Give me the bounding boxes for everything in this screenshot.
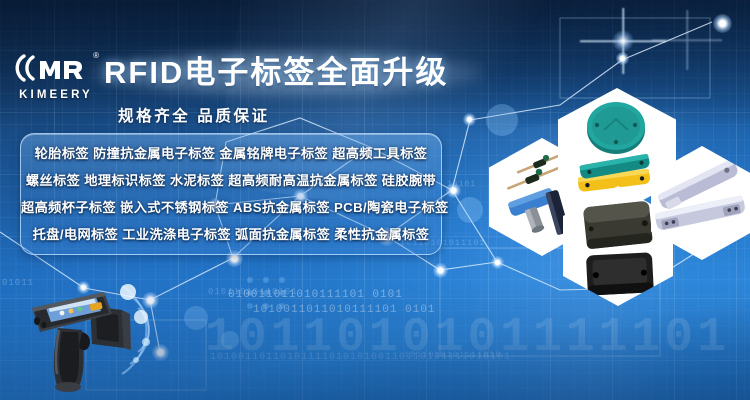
tag-list-row: 轮胎标签 防撞抗金属电子标签 金属铭牌电子标签 超高频工具标签 xyxy=(21,140,441,167)
headline-block: RFID电子标签全面升级 xyxy=(104,50,464,96)
network-node xyxy=(463,113,476,126)
brand-logo[interactable]: ® KIMEERY xyxy=(14,52,98,110)
network-node xyxy=(491,256,504,269)
tag-list-row: 螺丝标签 地理标识标签 水泥标签 超高频耐高温抗金属标签 硅胶腕带 xyxy=(21,167,441,194)
page-subtitle: 规格齐全 品质保证 xyxy=(118,104,270,126)
network-node xyxy=(433,263,448,278)
tag-list-row: 托盘/电网标签 工业洗涤电子标签 弧面抗金属标签 柔性抗金属标签 xyxy=(21,221,441,248)
network-node xyxy=(446,183,461,198)
network-node xyxy=(713,14,732,33)
tag-list-row: 超高频杯子标签 嵌入式不锈钢标签 ABS抗金属标签 PCB/陶瓷电子标签 xyxy=(21,194,441,221)
network-node xyxy=(616,52,629,65)
handheld-uhf-rfid-reader xyxy=(18,270,158,395)
rfid-promo-banner: 01011010110101 010011011010111101 0101 1… xyxy=(0,0,750,400)
page-title: RFID电子标签全面升级 xyxy=(104,50,464,96)
brand-wordmark: KIMEERY xyxy=(14,89,98,101)
product-tag-list-panel: 轮胎标签 防撞抗金属电子标签 金属铭牌电子标签 超高频工具标签 螺丝标签 地理标… xyxy=(20,133,442,255)
kmr-monogram-icon: ® xyxy=(14,52,98,84)
